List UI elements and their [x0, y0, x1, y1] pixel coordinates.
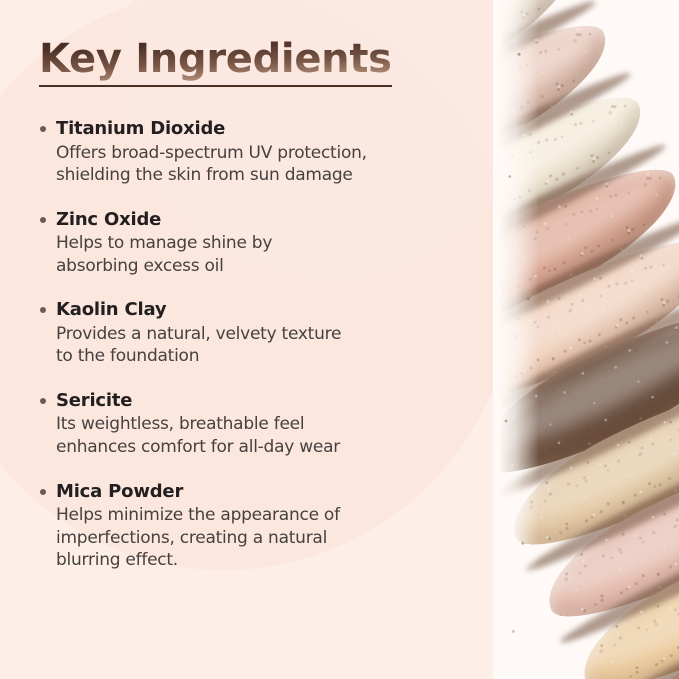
- ingredient-description: Provides a natural, velvety texture to t…: [56, 323, 470, 368]
- ingredient-name: Sericite: [56, 389, 470, 412]
- ingredient-item: SericiteIts weightless, breathable feel …: [39, 389, 470, 459]
- ingredient-name: Titanium Dioxide: [56, 117, 470, 140]
- ingredient-name: Kaolin Clay: [56, 298, 470, 321]
- bullet-dot-icon: [40, 307, 46, 313]
- ingredient-description: Offers broad-spectrum UV protection, shi…: [56, 142, 470, 187]
- ingredient-item: Titanium DioxideOffers broad-spectrum UV…: [39, 117, 470, 187]
- ingredient-name: Mica Powder: [56, 480, 470, 503]
- ingredient-item: Zinc OxideHelps to manage shine by absor…: [39, 208, 470, 278]
- ingredient-list: Titanium DioxideOffers broad-spectrum UV…: [39, 117, 470, 572]
- ingredient-description: Helps to manage shine by absorbing exces…: [56, 232, 470, 277]
- key-ingredients-infographic: Key Ingredients Titanium DioxideOffers b…: [0, 0, 679, 679]
- page-title-underline: Key Ingredients: [39, 38, 392, 87]
- powder-swatch-photo: [493, 0, 679, 679]
- bullet-dot-icon: [40, 398, 46, 404]
- ingredient-description: Helps minimize the appearance of imperfe…: [56, 504, 470, 572]
- bullet-dot-icon: [40, 217, 46, 223]
- ingredient-description: Its weightless, breathable feel enhances…: [56, 413, 470, 458]
- page-title: Key Ingredients: [39, 38, 392, 81]
- bullet-dot-icon: [40, 489, 46, 495]
- bullet-dot-icon: [40, 126, 46, 132]
- ingredient-item: Mica PowderHelps minimize the appearance…: [39, 480, 470, 572]
- powder-swatch-bands: [493, 0, 679, 679]
- content-column: Key Ingredients Titanium DioxideOffers b…: [0, 0, 470, 572]
- ingredient-name: Zinc Oxide: [56, 208, 470, 231]
- ingredient-item: Kaolin ClayProvides a natural, velvety t…: [39, 298, 470, 368]
